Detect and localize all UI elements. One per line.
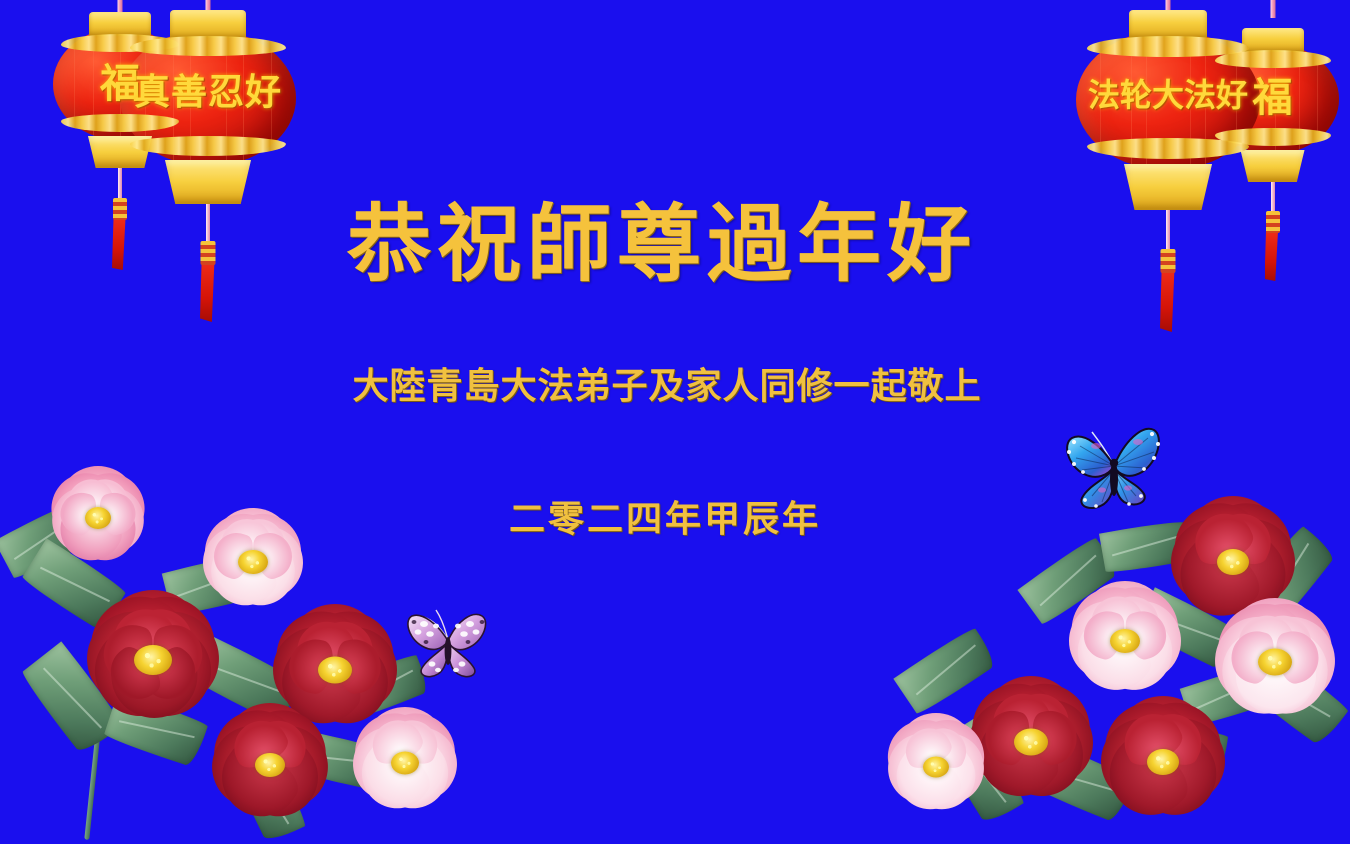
greeting-sender: 大陸青島大法弟子及家人同修一起敬上: [0, 365, 1342, 409]
lantern-tassel-knot: [1161, 249, 1176, 273]
peony-flower: [18, 454, 178, 582]
lantern-cap: [1242, 28, 1304, 52]
lantern-tassel-cord: [1166, 207, 1170, 253]
lantern-tassel-knot: [201, 241, 216, 265]
lantern-group-left: 福 真善忍好: [40, 0, 310, 290]
lantern-tassel-cord: [118, 166, 122, 202]
lantern-tassel-knot: [113, 198, 127, 220]
lantern-tassel-knot: [1266, 211, 1280, 233]
lantern-cap: [170, 10, 246, 38]
butterfly-right: [1052, 412, 1178, 524]
lantern-right-front-text: 法轮大法好: [1073, 78, 1263, 112]
lantern-cord-icon: [206, 0, 211, 10]
lantern-skirt: [1124, 164, 1212, 210]
lantern-tassel-cord: [206, 201, 210, 245]
lantern-skirt: [165, 160, 251, 204]
lantern-left-front: 真善忍好: [118, 0, 298, 298]
lantern-cord-icon: [1166, 0, 1171, 10]
lantern-cap: [89, 12, 151, 36]
lantern-skirt: [1241, 150, 1305, 182]
butterfly-left: [398, 596, 498, 682]
lantern-band-bottom: [1087, 138, 1249, 159]
lantern-band-bottom: [130, 136, 286, 156]
lantern-tassel-fringe: [1160, 270, 1176, 332]
lantern-group-right: 福 法轮大法好: [1065, 0, 1345, 300]
greeting-card: 福 真善忍好: [0, 0, 1350, 844]
lantern-right-front: 法轮大法好: [1073, 0, 1263, 306]
lantern-cord-icon: [1270, 0, 1275, 18]
lantern-tassel-cord: [1271, 180, 1275, 214]
lantern-cap: [1129, 10, 1207, 38]
lantern-band-top: [130, 36, 286, 56]
lantern-left-front-text: 真善忍好: [118, 74, 298, 112]
lantern-band-top: [1087, 36, 1249, 57]
lantern-tassel-fringe: [200, 262, 216, 322]
peony-flower: [1068, 682, 1258, 842]
lantern-tassel-fringe: [1265, 231, 1280, 281]
peony-flower: [856, 698, 1016, 836]
peony-flower: [320, 690, 490, 835]
